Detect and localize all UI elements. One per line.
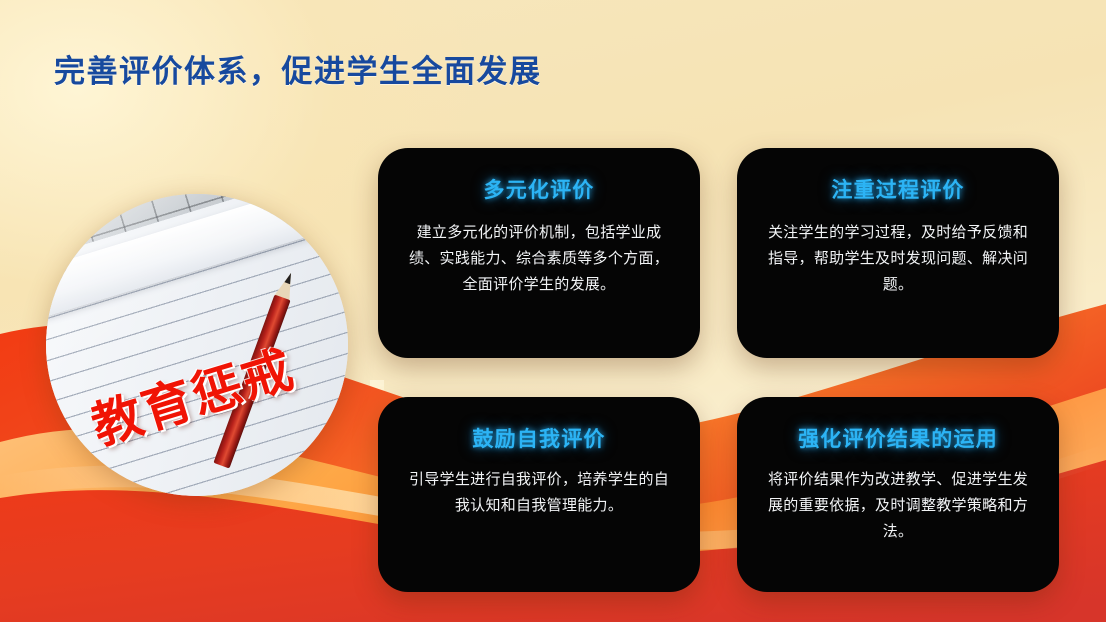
card-body: 引导学生进行自我评价，培养学生的自我认知和自我管理能力。 [402, 467, 676, 519]
card-heading: 强化评价结果的运用 [798, 423, 998, 453]
card-body: 将评价结果作为改进教学、促进学生发展的重要依据，及时调整教学策略和方法。 [761, 467, 1035, 544]
content-card[interactable]: 多元化评价 建立多元化的评价机制，包括学业成绩、实践能力、综合素质等多个方面，全… [378, 148, 700, 358]
card-body: 建立多元化的评价机制，包括学业成绩、实践能力、综合素质等多个方面，全面评价学生的… [402, 220, 676, 297]
card-heading: 注重过程评价 [831, 174, 964, 204]
card-body: 关注学生的学习过程，及时给予反馈和指导，帮助学生及时发现问题、解决问题。 [761, 220, 1035, 297]
content-card[interactable]: 鼓励自我评价 引导学生进行自我评价，培养学生的自我认知和自我管理能力。 [378, 397, 700, 592]
slide-canvas: 完善评价体系，促进学生全面发展 教育惩戒 多元化评价 建立多元化的评价机制，包括… [0, 0, 1106, 622]
circle-sheen [46, 194, 348, 496]
circular-notebook-photo: 教育惩戒 [46, 194, 348, 496]
page-title: 完善评价体系，促进学生全面发展 [54, 46, 542, 91]
content-card[interactable]: 强化评价结果的运用 将评价结果作为改进教学、促进学生发展的重要依据，及时调整教学… [737, 397, 1059, 592]
content-card[interactable]: 注重过程评价 关注学生的学习过程，及时给予反馈和指导，帮助学生及时发现问题、解决… [737, 148, 1059, 358]
card-heading: 鼓励自我评价 [472, 423, 605, 453]
card-heading: 多元化评价 [484, 174, 595, 204]
